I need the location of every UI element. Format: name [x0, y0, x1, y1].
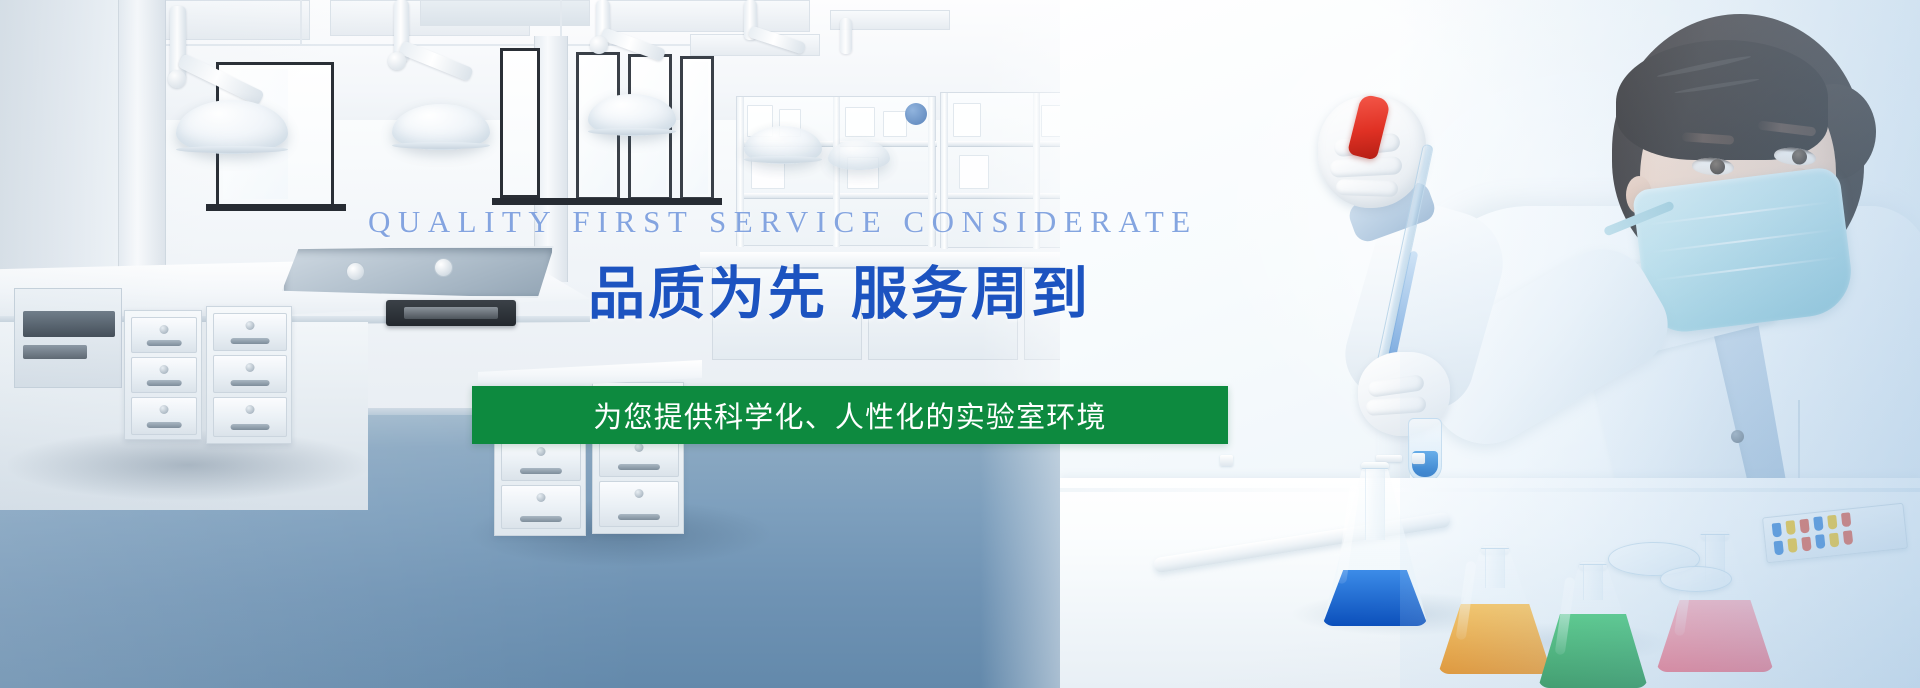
promo-banner: QUALITY FIRST SERVICE CONSIDERATE 品质为先 服… [0, 0, 1920, 688]
english-tagline: QUALITY FIRST SERVICE CONSIDERATE [368, 204, 1028, 240]
subtitle-text: 为您提供科学化、人性化的实验室环境 [593, 394, 1106, 436]
chinese-headline: 品质为先 服务周到 [588, 248, 1091, 330]
text-overlay: QUALITY FIRST SERVICE CONSIDERATE 品质为先 服… [0, 0, 1920, 688]
subtitle-bar: 为您提供科学化、人性化的实验室环境 [472, 386, 1228, 444]
